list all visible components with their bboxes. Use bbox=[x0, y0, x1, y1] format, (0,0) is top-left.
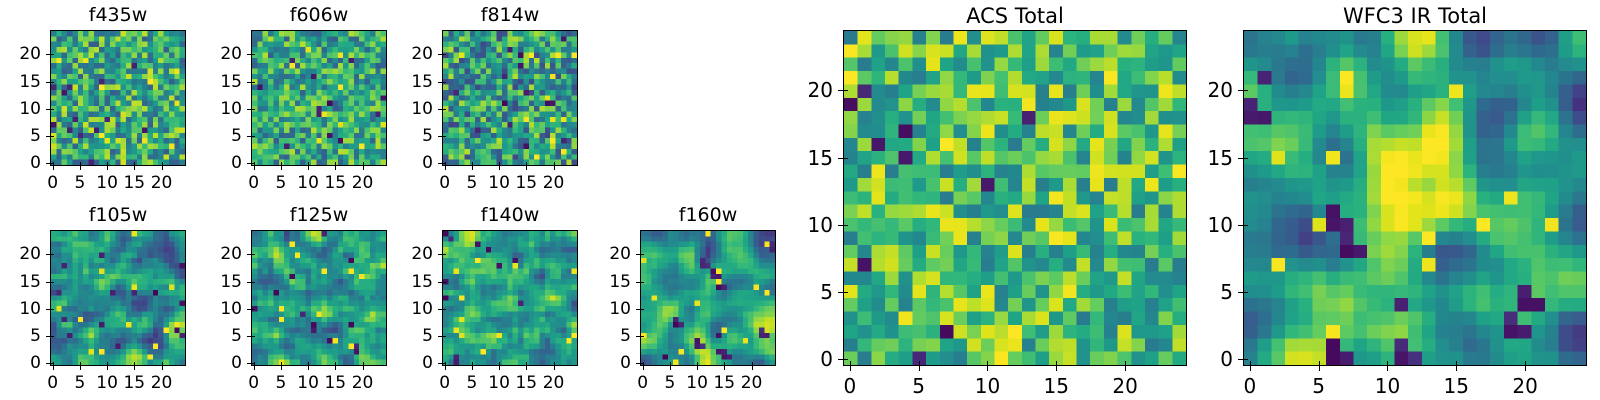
xticklabel-f125w-15: 15 bbox=[324, 373, 346, 393]
ytick-f125w-5 bbox=[251, 336, 255, 337]
xtick-acs-total-20 bbox=[1125, 361, 1126, 366]
xtick-wfc3-ir-total-0 bbox=[1250, 366, 1251, 371]
yticklabel-wfc3-ir-total-0: 0 bbox=[1183, 347, 1233, 371]
yticklabel-wfc3-ir-total-20: 20 bbox=[1183, 78, 1233, 102]
ytick-f105w-15 bbox=[50, 282, 54, 283]
xtick-acs-total-10 bbox=[987, 361, 988, 366]
xtick-f140w-20 bbox=[554, 366, 555, 370]
xticklabel-wfc3-ir-total-5: 5 bbox=[1312, 374, 1325, 398]
ytick-wfc3-ir-total-0 bbox=[1243, 359, 1248, 360]
xtick-f125w-5 bbox=[281, 366, 282, 370]
yticklabel-f140w-15: 15 bbox=[382, 272, 433, 292]
heatmap-f140w bbox=[443, 231, 577, 365]
xtick-wfc3-ir-total-10 bbox=[1387, 366, 1388, 371]
ytick-wfc3-ir-total-5 bbox=[1243, 292, 1248, 293]
xticklabel-f105w-10: 10 bbox=[96, 373, 118, 393]
xticklabel-acs-total-10: 10 bbox=[975, 374, 1000, 398]
xticklabel-f140w-15: 15 bbox=[515, 373, 537, 393]
xtick-acs-total-5 bbox=[919, 361, 920, 366]
figure-canvas: f435w0510152005101520f606w05101520051015… bbox=[0, 0, 1600, 400]
ytick-f140w-10 bbox=[442, 309, 446, 310]
ytick-wfc3-ir-total-10 bbox=[1243, 225, 1248, 226]
panel-title-f140w: f140w bbox=[442, 204, 578, 226]
xtick-f105w-0 bbox=[53, 366, 54, 370]
xtick-acs-total-5 bbox=[919, 366, 920, 371]
plot-area-f125w bbox=[251, 230, 387, 366]
xticklabel-f160w-15: 15 bbox=[713, 373, 735, 393]
ytick-f105w-20 bbox=[50, 254, 54, 255]
ytick-f160w-20 bbox=[640, 254, 644, 255]
heatmap-f105w bbox=[51, 231, 185, 365]
ytick-acs-total-0 bbox=[843, 359, 848, 360]
panel-wfc3-ir-total: WFC3 IR Total0510152005101520 bbox=[1183, 0, 1587, 400]
panel-title-f160w: f160w bbox=[640, 204, 776, 226]
ytick-acs-total-15 bbox=[843, 158, 848, 159]
xtick-f105w-5 bbox=[80, 366, 81, 370]
xticklabel-acs-total-20: 20 bbox=[1112, 374, 1137, 398]
xticklabel-f105w-5: 5 bbox=[74, 373, 85, 393]
panel-title-f125w: f125w bbox=[251, 204, 387, 226]
xticklabel-f105w-0: 0 bbox=[47, 373, 58, 393]
panel-f140w: f140w0510152005101520 bbox=[382, 0, 578, 400]
xticklabel-f140w-5: 5 bbox=[466, 373, 477, 393]
heatmap-f125w bbox=[252, 231, 386, 365]
yticklabel-wfc3-ir-total-5: 5 bbox=[1183, 280, 1233, 304]
yticklabel-f160w-15: 15 bbox=[580, 272, 631, 292]
yticklabel-f140w-20: 20 bbox=[382, 244, 433, 264]
xtick-f160w-5 bbox=[670, 362, 671, 366]
xticklabel-f125w-20: 20 bbox=[352, 373, 374, 393]
xtick-f160w-15 bbox=[724, 362, 725, 366]
plot-area-f160w bbox=[640, 230, 776, 366]
yticklabel-f160w-20: 20 bbox=[580, 244, 631, 264]
yticklabel-f160w-10: 10 bbox=[580, 299, 631, 319]
xtick-acs-total-15 bbox=[1056, 366, 1057, 371]
xtick-f160w-10 bbox=[697, 366, 698, 370]
yticklabel-f125w-15: 15 bbox=[191, 272, 242, 292]
ytick-f105w-5 bbox=[50, 336, 54, 337]
xticklabel-acs-total-0: 0 bbox=[844, 374, 857, 398]
xtick-acs-total-0 bbox=[850, 366, 851, 371]
xticklabel-wfc3-ir-total-10: 10 bbox=[1375, 374, 1400, 398]
xticklabel-f105w-20: 20 bbox=[151, 373, 173, 393]
ytick-f105w-10 bbox=[50, 309, 54, 310]
xtick-f125w-5 bbox=[281, 362, 282, 366]
xtick-f160w-10 bbox=[697, 362, 698, 366]
xtick-f140w-15 bbox=[526, 362, 527, 366]
xtick-f105w-15 bbox=[134, 362, 135, 366]
xticklabel-f125w-10: 10 bbox=[297, 373, 319, 393]
yticklabel-f125w-10: 10 bbox=[191, 299, 242, 319]
xtick-wfc3-ir-total-20 bbox=[1525, 361, 1526, 366]
yticklabel-f160w-5: 5 bbox=[580, 326, 631, 346]
xtick-f105w-20 bbox=[162, 366, 163, 370]
ytick-f105w-0 bbox=[50, 363, 54, 364]
xticklabel-acs-total-15: 15 bbox=[1044, 374, 1069, 398]
xticklabel-wfc3-ir-total-20: 20 bbox=[1512, 374, 1537, 398]
yticklabel-acs-total-5: 5 bbox=[783, 280, 833, 304]
ytick-f160w-15 bbox=[640, 282, 644, 283]
xtick-wfc3-ir-total-0 bbox=[1250, 361, 1251, 366]
yticklabel-f105w-10: 10 bbox=[0, 299, 41, 319]
xtick-f160w-5 bbox=[670, 366, 671, 370]
xtick-f125w-10 bbox=[308, 366, 309, 370]
yticklabel-f105w-0: 0 bbox=[0, 353, 41, 373]
xtick-f125w-0 bbox=[254, 366, 255, 370]
ytick-f140w-15 bbox=[442, 282, 446, 283]
panel-f160w: f160w0510152005101520 bbox=[580, 0, 776, 400]
ytick-f140w-5 bbox=[442, 336, 446, 337]
ytick-wfc3-ir-total-20 bbox=[1243, 90, 1248, 91]
xtick-acs-total-10 bbox=[987, 366, 988, 371]
xtick-f105w-10 bbox=[107, 366, 108, 370]
yticklabel-wfc3-ir-total-15: 15 bbox=[1183, 146, 1233, 170]
panel-title-f105w: f105w bbox=[50, 204, 186, 226]
xticklabel-f160w-20: 20 bbox=[741, 373, 763, 393]
xticklabel-wfc3-ir-total-15: 15 bbox=[1444, 374, 1469, 398]
xtick-f125w-20 bbox=[363, 366, 364, 370]
yticklabel-acs-total-20: 20 bbox=[783, 78, 833, 102]
panel-f125w: f125w0510152005101520 bbox=[191, 0, 387, 400]
xtick-f125w-10 bbox=[308, 362, 309, 366]
ytick-f125w-0 bbox=[251, 363, 255, 364]
xtick-f105w-15 bbox=[134, 366, 135, 370]
yticklabel-acs-total-10: 10 bbox=[783, 213, 833, 237]
plot-area-f140w bbox=[442, 230, 578, 366]
yticklabel-acs-total-15: 15 bbox=[783, 146, 833, 170]
ytick-f160w-10 bbox=[640, 309, 644, 310]
ytick-f125w-15 bbox=[251, 282, 255, 283]
heatmap-acs-total bbox=[844, 31, 1186, 365]
yticklabel-f140w-0: 0 bbox=[382, 353, 433, 373]
xtick-wfc3-ir-total-20 bbox=[1525, 366, 1526, 371]
ytick-acs-total-10 bbox=[843, 225, 848, 226]
xtick-f105w-10 bbox=[107, 362, 108, 366]
ytick-acs-total-20 bbox=[843, 90, 848, 91]
panel-title-wfc3-ir-total: WFC3 IR Total bbox=[1243, 4, 1587, 28]
xtick-acs-total-0 bbox=[850, 361, 851, 366]
xtick-f140w-5 bbox=[472, 362, 473, 366]
yticklabel-f105w-5: 5 bbox=[0, 326, 41, 346]
xtick-f160w-20 bbox=[752, 362, 753, 366]
xtick-f140w-20 bbox=[554, 362, 555, 366]
xticklabel-f105w-15: 15 bbox=[123, 373, 145, 393]
xtick-f140w-15 bbox=[526, 366, 527, 370]
xtick-wfc3-ir-total-10 bbox=[1387, 361, 1388, 366]
xtick-f140w-10 bbox=[499, 366, 500, 370]
xtick-f125w-20 bbox=[363, 362, 364, 366]
yticklabel-f125w-20: 20 bbox=[191, 244, 242, 264]
ytick-f160w-5 bbox=[640, 336, 644, 337]
xticklabel-f140w-0: 0 bbox=[439, 373, 450, 393]
xtick-wfc3-ir-total-15 bbox=[1456, 361, 1457, 366]
xtick-f125w-15 bbox=[335, 362, 336, 366]
xticklabel-f160w-10: 10 bbox=[686, 373, 708, 393]
yticklabel-acs-total-0: 0 bbox=[783, 347, 833, 371]
yticklabel-f105w-15: 15 bbox=[0, 272, 41, 292]
plot-area-f105w bbox=[50, 230, 186, 366]
ytick-f125w-10 bbox=[251, 309, 255, 310]
xtick-wfc3-ir-total-5 bbox=[1319, 361, 1320, 366]
xticklabel-acs-total-5: 5 bbox=[912, 374, 925, 398]
plot-area-wfc3-ir-total bbox=[1243, 30, 1587, 366]
xtick-f125w-15 bbox=[335, 366, 336, 370]
xtick-f105w-5 bbox=[80, 362, 81, 366]
xticklabel-f160w-0: 0 bbox=[637, 373, 648, 393]
ytick-f125w-20 bbox=[251, 254, 255, 255]
yticklabel-f140w-5: 5 bbox=[382, 326, 433, 346]
xtick-wfc3-ir-total-5 bbox=[1319, 366, 1320, 371]
ytick-acs-total-5 bbox=[843, 292, 848, 293]
xtick-f140w-10 bbox=[499, 362, 500, 366]
heatmap-wfc3-ir-total bbox=[1244, 31, 1586, 365]
yticklabel-wfc3-ir-total-10: 10 bbox=[1183, 213, 1233, 237]
xtick-wfc3-ir-total-15 bbox=[1456, 366, 1457, 371]
xtick-f160w-15 bbox=[724, 366, 725, 370]
xticklabel-f125w-0: 0 bbox=[248, 373, 259, 393]
yticklabel-f140w-10: 10 bbox=[382, 299, 433, 319]
xtick-acs-total-20 bbox=[1125, 366, 1126, 371]
heatmap-f160w bbox=[641, 231, 775, 365]
yticklabel-f125w-0: 0 bbox=[191, 353, 242, 373]
xtick-acs-total-15 bbox=[1056, 361, 1057, 366]
xtick-f140w-0 bbox=[445, 366, 446, 370]
ytick-wfc3-ir-total-15 bbox=[1243, 158, 1248, 159]
xtick-f160w-0 bbox=[643, 366, 644, 370]
xticklabel-f140w-10: 10 bbox=[488, 373, 510, 393]
panel-acs-total: ACS Total0510152005101520 bbox=[783, 0, 1187, 400]
xtick-f105w-20 bbox=[162, 362, 163, 366]
yticklabel-f105w-20: 20 bbox=[0, 244, 41, 264]
ytick-f140w-20 bbox=[442, 254, 446, 255]
xticklabel-f160w-5: 5 bbox=[664, 373, 675, 393]
plot-area-acs-total bbox=[843, 30, 1187, 366]
ytick-f140w-0 bbox=[442, 363, 446, 364]
panel-f105w: f105w0510152005101520 bbox=[0, 0, 186, 400]
xtick-f160w-20 bbox=[752, 366, 753, 370]
yticklabel-f125w-5: 5 bbox=[191, 326, 242, 346]
yticklabel-f160w-0: 0 bbox=[580, 353, 631, 373]
xtick-f140w-5 bbox=[472, 366, 473, 370]
xticklabel-f125w-5: 5 bbox=[275, 373, 286, 393]
ytick-f160w-0 bbox=[640, 363, 644, 364]
xticklabel-f140w-20: 20 bbox=[543, 373, 565, 393]
xticklabel-wfc3-ir-total-0: 0 bbox=[1244, 374, 1257, 398]
panel-title-acs-total: ACS Total bbox=[843, 4, 1187, 28]
